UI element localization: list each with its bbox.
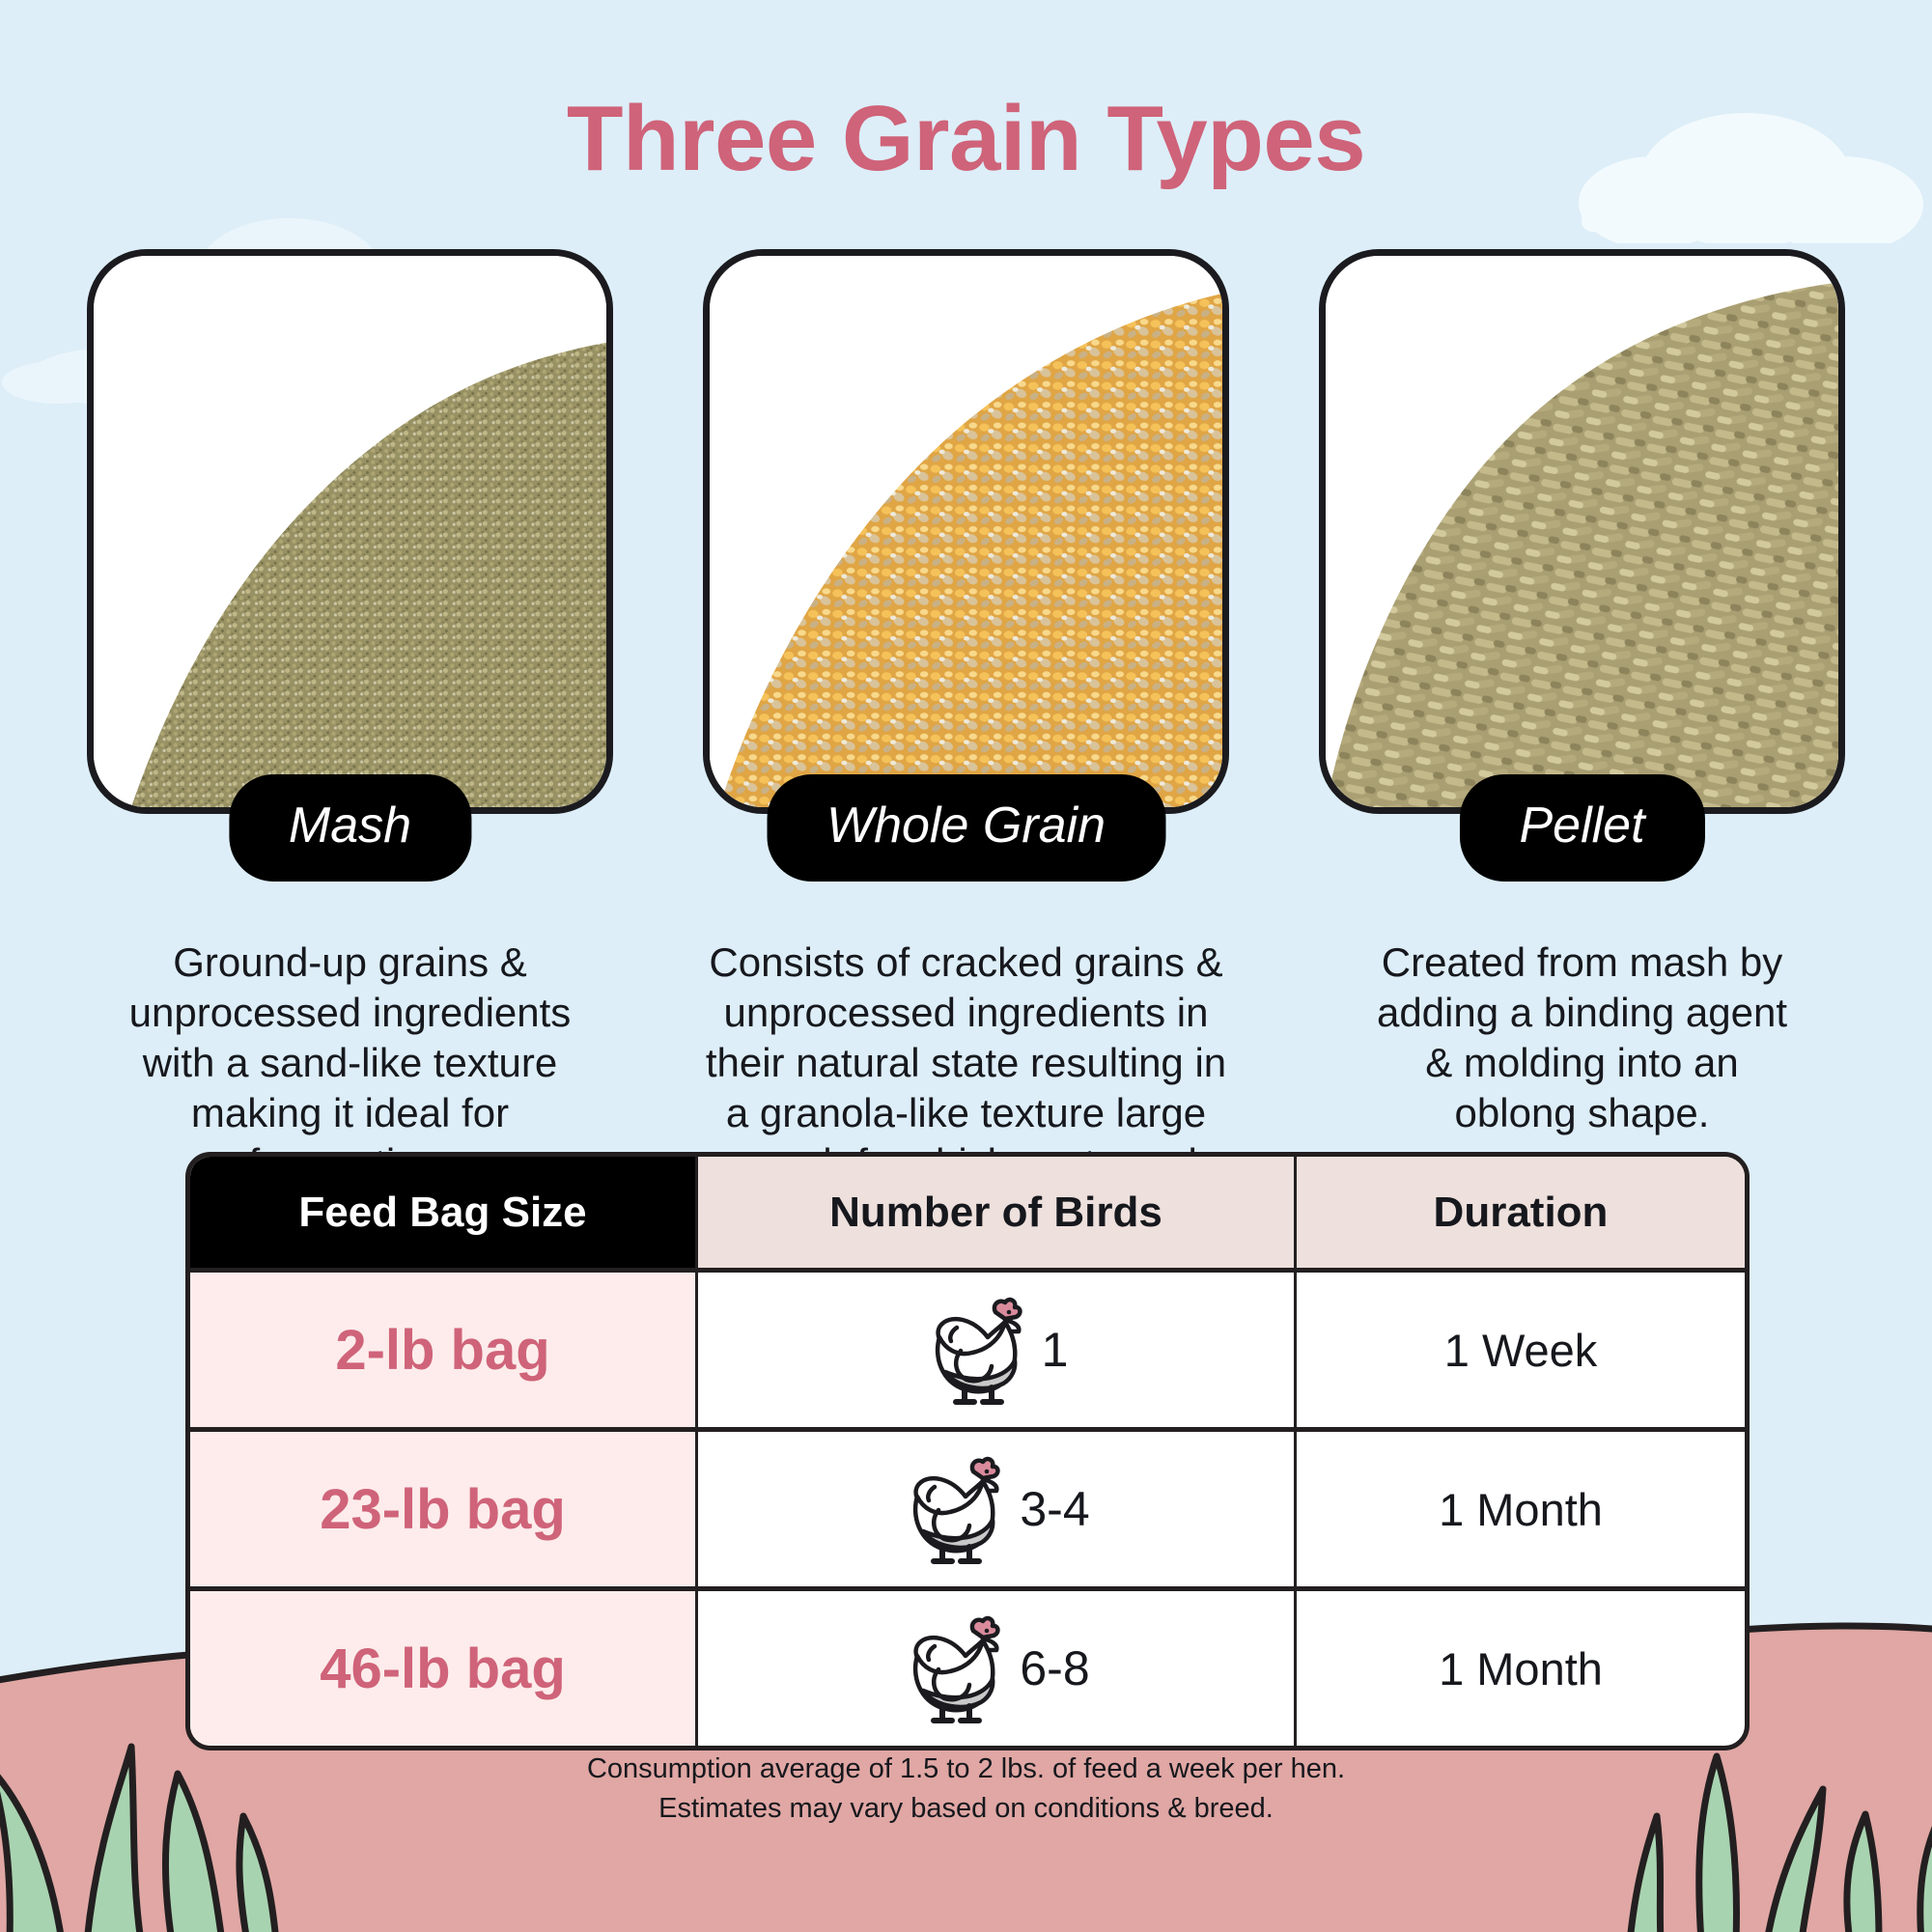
table-header-duration: Duration <box>1294 1157 1745 1268</box>
table-row: 2-lb bag <box>190 1268 1745 1427</box>
hen-icon <box>924 1293 1028 1407</box>
cell-duration: 1 Week <box>1294 1273 1745 1427</box>
cell-number-of-birds: 6-8 <box>695 1591 1294 1746</box>
mash-grain-photo <box>87 249 613 814</box>
pellet-photo <box>1319 249 1845 814</box>
bird-count-value: 1 <box>1042 1322 1069 1378</box>
grain-description-pellet: Created from mash by adding a binding ag… <box>1370 938 1795 1138</box>
cell-duration: 1 Month <box>1294 1432 1745 1586</box>
whole-grain-heap-illustration <box>710 256 1222 807</box>
bird-count-value: 3-4 <box>1020 1481 1089 1537</box>
grain-label-pellet: Pellet <box>1459 774 1704 882</box>
cell-bag-size: 2-lb bag <box>190 1273 695 1427</box>
feed-bag-table: Feed Bag Size Number of Birds Duration 2… <box>185 1152 1750 1750</box>
cell-bag-size: 46-lb bag <box>190 1591 695 1746</box>
grain-card-pellet: Pellet Created from mash by adding a bin… <box>1319 249 1845 1189</box>
footnote-line-1: Consumption average of 1.5 to 2 lbs. of … <box>0 1750 1932 1789</box>
table-row: 46-lb bag <box>190 1586 1745 1746</box>
table-header-number-of-birds: Number of Birds <box>695 1157 1294 1268</box>
photo-wrap-mash: Mash <box>87 249 613 814</box>
whole-grain-photo <box>703 249 1229 814</box>
photo-wrap-whole-grain: Whole Grain <box>703 249 1229 814</box>
table-header-feed-bag-size: Feed Bag Size <box>190 1157 695 1268</box>
grain-card-row: Mash Ground-up grains & unprocessed ingr… <box>0 249 1932 1189</box>
pellet-heap-illustration <box>1326 256 1838 807</box>
footnote: Consumption average of 1.5 to 2 lbs. of … <box>0 1750 1932 1829</box>
table-header-row: Feed Bag Size Number of Birds Duration <box>190 1157 1745 1268</box>
table-row: 23-lb bag <box>190 1427 1745 1586</box>
grain-card-whole-grain: Whole Grain Consists of cracked grains &… <box>703 249 1229 1189</box>
bird-count-value: 6-8 <box>1020 1640 1089 1696</box>
footnote-line-2: Estimates may vary based on conditions &… <box>0 1789 1932 1829</box>
cell-duration: 1 Month <box>1294 1591 1745 1746</box>
grain-label-whole-grain: Whole Grain <box>767 774 1165 882</box>
cell-number-of-birds: 1 <box>695 1273 1294 1427</box>
grain-label-mash: Mash <box>229 774 471 882</box>
grain-card-mash: Mash Ground-up grains & unprocessed ingr… <box>87 249 613 1189</box>
photo-wrap-pellet: Pellet <box>1319 249 1845 814</box>
mash-heap-illustration <box>94 256 606 807</box>
infographic-page: Three Grain Types <box>0 0 1932 1932</box>
page-title: Three Grain Types <box>0 93 1932 185</box>
cell-bag-size: 23-lb bag <box>190 1432 695 1586</box>
cell-number-of-birds: 3-4 <box>695 1432 1294 1586</box>
hen-icon <box>902 1452 1006 1566</box>
hen-icon <box>902 1611 1006 1725</box>
